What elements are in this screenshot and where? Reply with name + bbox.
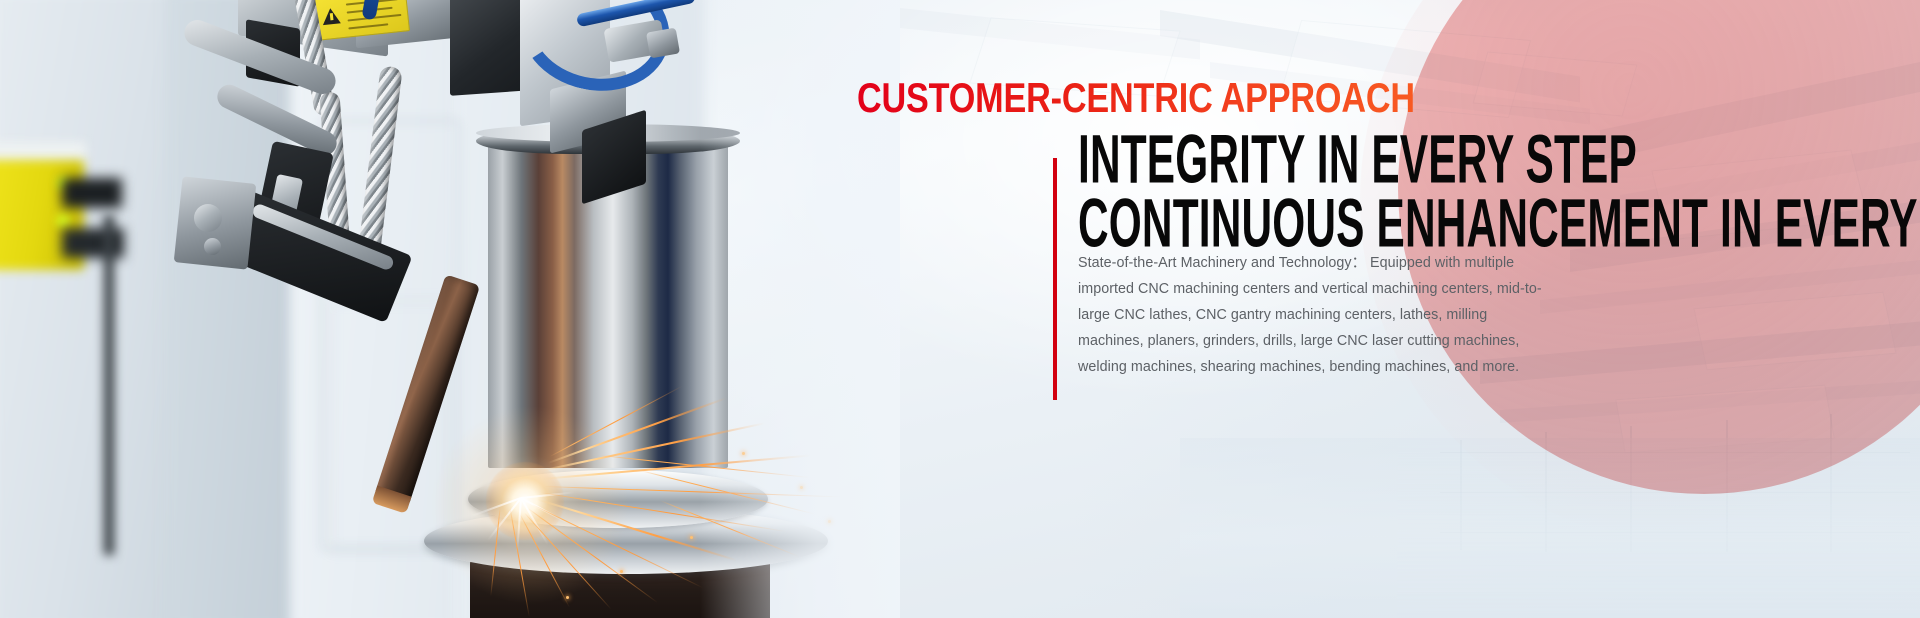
headline-group: INTEGRITY IN EVERY STEP CONTINUOUS ENHAN… [1078,128,1898,242]
machine-rail [104,215,114,555]
sensor-bracket [62,178,122,208]
bolt-icon [204,238,221,255]
headline-line-1: INTEGRITY IN EVERY STEP [1078,128,1734,193]
sensor-led-icon [56,214,70,228]
sensor-bracket [62,228,124,258]
spark-ember [620,570,623,573]
headline-line-2: CONTINUOUS ENHANCEMENT IN EVERY PROCESS [1078,192,1734,257]
spark-ember [566,596,569,599]
banner-text-content: CUSTOMER-CENTRIC APPROACH INTEGRITY IN E… [856,0,1920,618]
pivot-bolt-icon [194,204,222,232]
hose-nut [646,28,680,59]
red-accent-bar [1053,158,1057,400]
body-paragraph: State-of-the-Art Machinery and Technolog… [1078,250,1546,380]
welding-robot-photo [0,0,900,618]
spark-ember [690,536,693,539]
hero-banner: CUSTOMER-CENTRIC APPROACH INTEGRITY IN E… [0,0,1920,618]
robot-arm-assembly [120,0,740,460]
eyebrow-heading: CUSTOMER-CENTRIC APPROACH [857,76,1415,123]
